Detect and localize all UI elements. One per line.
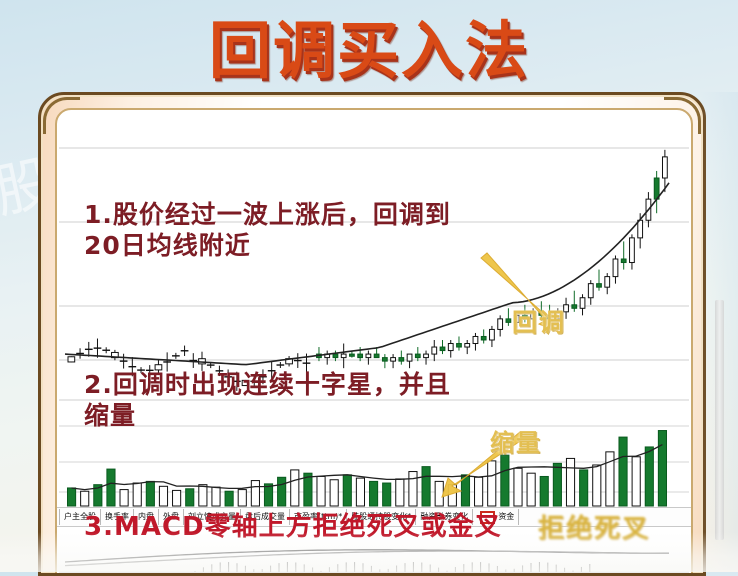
note-step-2: 2.回调时出现连续十字星，并且 缩量	[84, 370, 451, 431]
decorative-frame-outer: 户主全股换手率内盘外盘刘立憧成交量盘后成交量市盈率(ttm)*陆股通持股变化*融…	[38, 92, 706, 576]
callout-suoliang: 缩量	[490, 423, 542, 458]
note-step-3: 3.MACD零轴上方拒绝死叉或金叉	[84, 512, 502, 544]
callout-huidiao: 回调	[512, 303, 566, 339]
page-title-area: 回调买入法	[0, 2, 738, 88]
callout-jujue-sicha: 拒绝死叉	[538, 508, 650, 545]
note-step-1: 1.股价经过一波上涨后，回调到 20日均线附近	[84, 200, 451, 261]
page-title: 回调买入法	[209, 0, 529, 90]
decorative-frame-inner: 户主全股换手率内盘外盘刘立憧成交量盘后成交量市盈率(ttm)*陆股通持股变化*融…	[55, 108, 693, 576]
page-scrollbar[interactable]	[715, 300, 724, 540]
